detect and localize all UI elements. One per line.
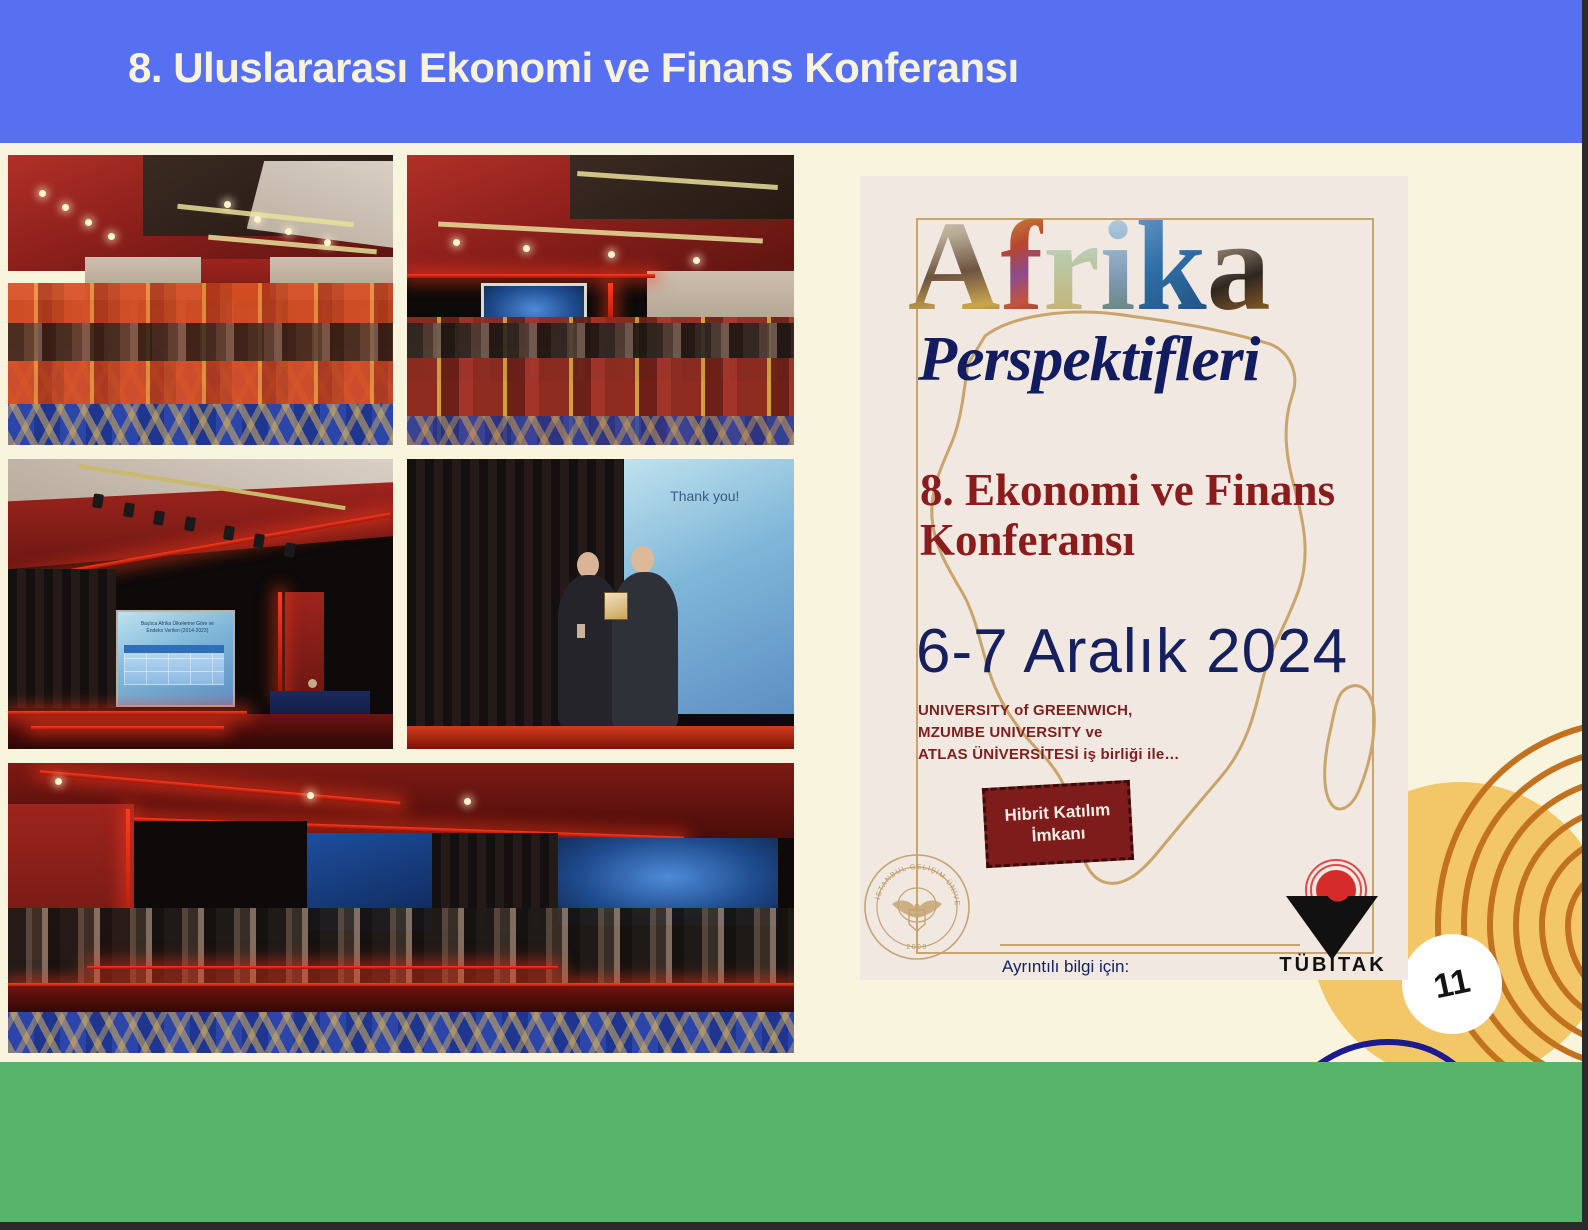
poster-divider-rule — [1000, 944, 1300, 946]
photo-scene — [8, 763, 794, 1053]
page-number-badge: 11 — [1402, 934, 1502, 1034]
afrika-letter-r: r — [1043, 202, 1100, 330]
slide-bottom-edge — [0, 1222, 1588, 1230]
photo-conference-hall-audience — [8, 155, 393, 445]
poster-conference-title: 8. Ekonomi ve Finans Konferansı — [920, 466, 1350, 565]
page-number: 11 — [1430, 961, 1473, 1007]
page-title: 8. Uluslararası Ekonomi ve Finans Konfer… — [128, 44, 1019, 92]
tubitak-logo-icon — [1274, 852, 1392, 970]
svg-text:2008: 2008 — [906, 944, 928, 951]
afrika-letter-f: f — [1000, 202, 1043, 330]
photo-scene — [407, 155, 794, 445]
photo-award-plaque-ceremony: Thank you! — [407, 459, 794, 749]
slide-bottom-band — [0, 1062, 1588, 1222]
photo-scene — [8, 155, 393, 445]
poster-title-afrika: A f r i k a — [908, 190, 1378, 330]
hybrid-participation-stamp: Hibrit Katılım İmkanı — [982, 780, 1134, 868]
photo-scene: Thank you! — [407, 459, 794, 749]
poster-subtitle-perspektifleri: Perspektifleri — [918, 322, 1259, 396]
poster-date: 6-7 Aralık 2024 — [916, 616, 1348, 687]
photo-presentation-data-table: Başlıca Afrika Ülkelerine Göre ve Endeks… — [8, 459, 393, 749]
screen-table-title: Başlıca Afrika Ülkelerine Göre ve Endeks… — [135, 621, 220, 635]
poster-partner-universities: UNIVERSITY of GREENWICH, MZUMBE UNIVERSI… — [918, 700, 1180, 765]
stamp-line-1: Hibrit Katılım — [1004, 799, 1111, 827]
svg-text:İSTANBUL GELİŞİM ÜNİVERSİTESİ: İSTANBUL GELİŞİM ÜNİVERSİTESİ — [862, 852, 962, 907]
stamp-line-2: İmkanı — [1031, 822, 1086, 847]
afrika-letter-k: k — [1135, 202, 1206, 330]
slide-header-band: 8. Uluslararası Ekonomi ve Finans Konfer… — [0, 0, 1588, 143]
screen-thank-you-text: Thank you! — [670, 488, 739, 504]
afrika-letter-a1: A — [908, 202, 1000, 330]
photo-auditorium-opening-session — [407, 155, 794, 445]
photo-group-photo-on-stage — [8, 763, 794, 1053]
afrika-letter-i: i — [1100, 202, 1136, 330]
slide-right-edge — [1582, 0, 1588, 1230]
poster-contact-info: Ayrıntılı bilgi için: www.guicefm.gelisi… — [1002, 954, 1208, 980]
contact-info-label: Ayrıntılı bilgi için: — [1002, 954, 1208, 980]
conference-poster: A f r i k a Perspektifleri 8. Ekonomi ve… — [860, 176, 1408, 980]
tubitak-label: TÜBİTAK — [1270, 954, 1396, 977]
photo-scene: Başlıca Afrika Ülkelerine Göre ve Endeks… — [8, 459, 393, 749]
afrika-letter-a2: a — [1207, 202, 1271, 330]
presentation-slide: 8. Uluslararası Ekonomi ve Finans Konfer… — [0, 0, 1588, 1230]
istanbul-gelisim-university-seal: İSTANBUL GELİŞİM ÜNİVERSİTESİ 2008 — [862, 852, 972, 962]
